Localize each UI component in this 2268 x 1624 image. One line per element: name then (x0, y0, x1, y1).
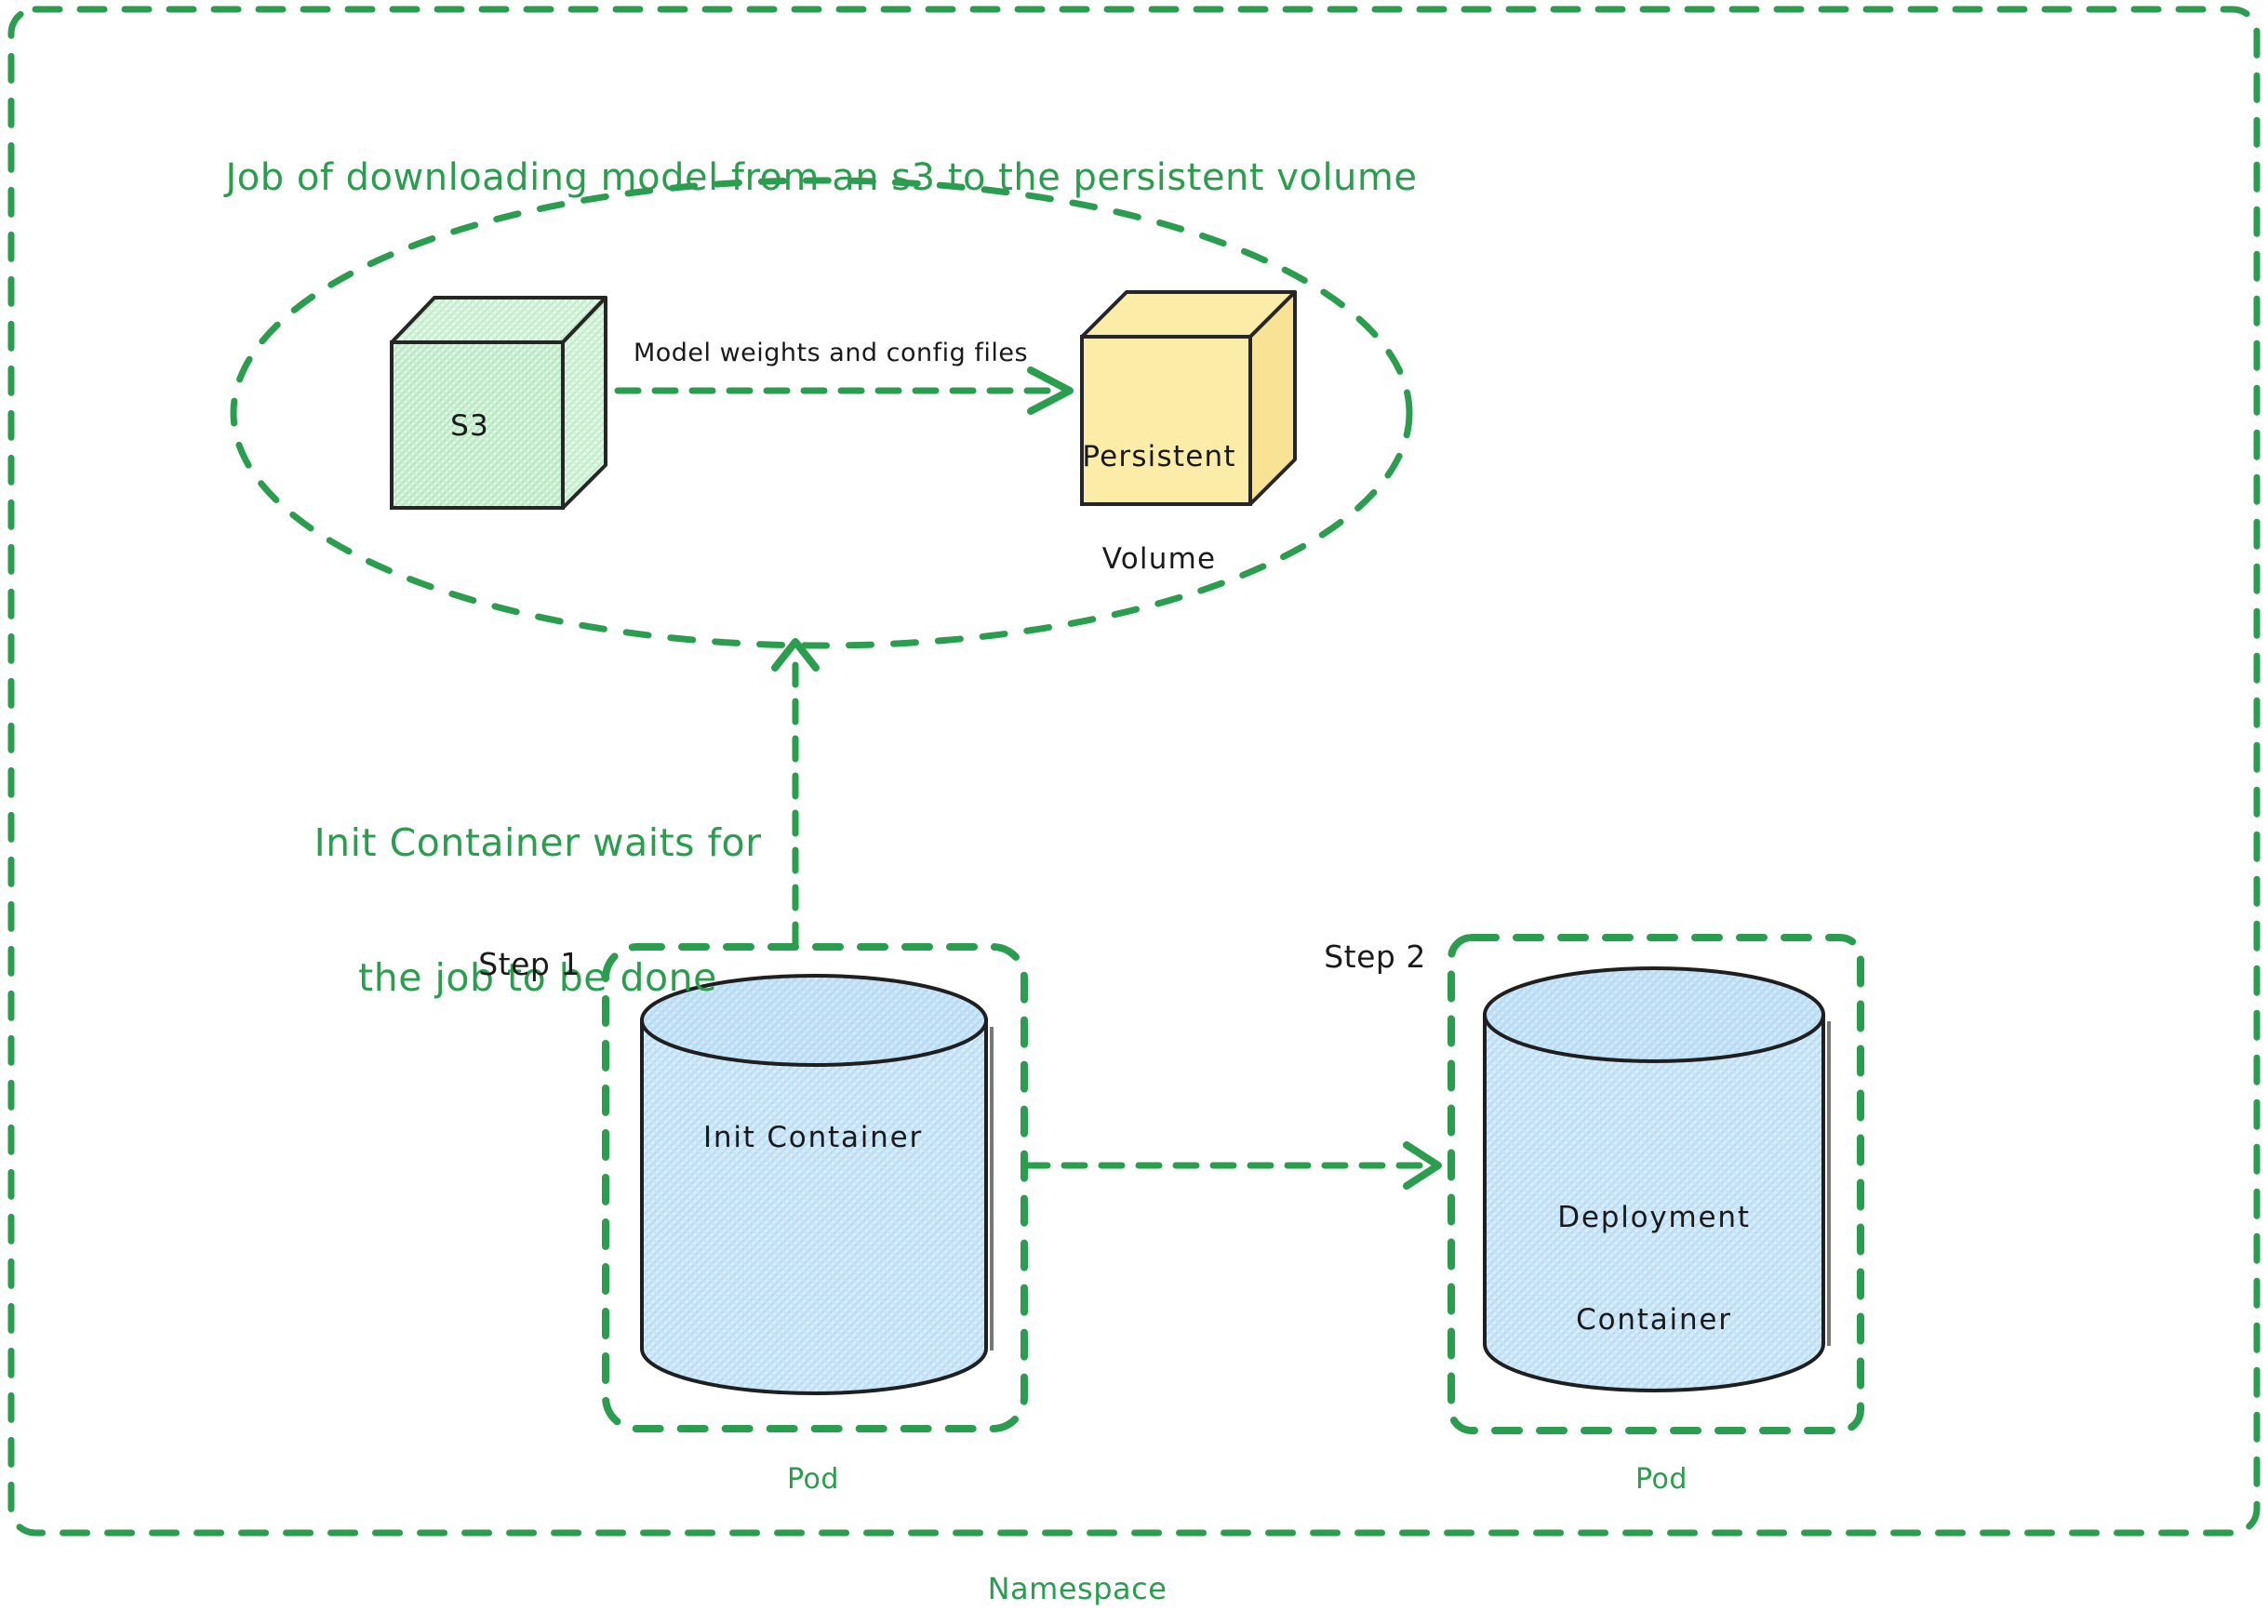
diagram-svg (0, 0, 2268, 1624)
edge-s3-to-pv (618, 370, 1070, 411)
edge-initpod-to-deploypod (1027, 1145, 1438, 1186)
persistent-volume-cube-shape (1082, 292, 1295, 504)
edge-initpod-to-job (775, 642, 816, 945)
deployment-container-cylinder-shape (1485, 968, 1829, 1391)
init-container-cylinder-shape (642, 976, 992, 1393)
s3-cube-shape (392, 298, 606, 508)
namespace-boundary (11, 9, 2257, 1533)
diagram-canvas: Job of downloading model from an s3 to t… (0, 0, 2268, 1624)
